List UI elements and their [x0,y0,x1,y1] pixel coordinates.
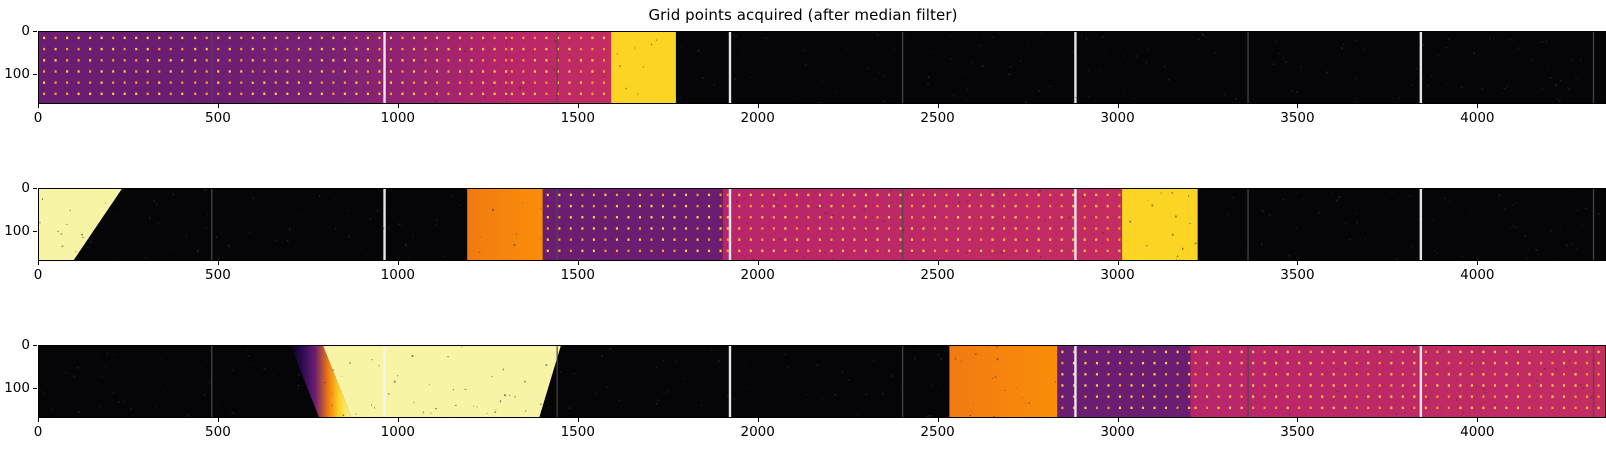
x-tick-label-row-2: 1500 [561,424,595,440]
x-tick-label-row-1: 1000 [381,267,415,283]
axes-row-0 [38,31,1606,104]
y-tick-row-0 [33,31,37,32]
x-tick-label-row-2: 1000 [381,424,415,440]
x-tick-label-row-0: 2500 [920,110,954,126]
x-tick-row-2 [218,418,219,422]
y-tick-row-2 [33,388,37,389]
y-tick-label-row-1: 0 [21,180,30,196]
x-tick-row-1 [938,261,939,265]
x-tick-label-row-0: 4000 [1460,110,1494,126]
x-tick-label-row-1: 3500 [1280,267,1314,283]
x-tick-row-0 [938,104,939,108]
heatmap-image-row-0 [39,32,1605,103]
figure-title: Grid points acquired (after median filte… [0,6,1606,24]
x-tick-label-row-0: 3500 [1280,110,1314,126]
y-tick-label-row-2: 100 [4,380,30,396]
x-tick-label-row-2: 0 [34,424,43,440]
x-tick-label-row-2: 500 [205,424,231,440]
x-tick-label-row-1: 2000 [740,267,774,283]
x-tick-row-0 [1297,104,1298,108]
x-tick-row-1 [38,261,39,265]
y-tick-label-row-0: 0 [21,23,30,39]
x-tick-label-row-0: 3000 [1100,110,1134,126]
x-tick-label-row-2: 4000 [1460,424,1494,440]
x-tick-row-1 [398,261,399,265]
y-tick-row-1 [33,188,37,189]
heatmap-image-row-2 [39,346,1605,417]
x-tick-row-2 [938,418,939,422]
x-tick-label-row-1: 500 [205,267,231,283]
x-tick-label-row-0: 1000 [381,110,415,126]
x-tick-row-2 [1118,418,1119,422]
y-tick-row-2 [33,345,37,346]
x-tick-label-row-2: 2000 [740,424,774,440]
x-tick-row-1 [1477,261,1478,265]
figure-canvas: Grid points acquired (after median filte… [0,0,1606,460]
x-tick-label-row-1: 3000 [1100,267,1134,283]
x-tick-label-row-2: 3500 [1280,424,1314,440]
x-tick-row-0 [398,104,399,108]
y-tick-label-row-2: 0 [21,337,30,353]
axes-row-1 [38,188,1606,261]
x-tick-row-1 [1118,261,1119,265]
x-tick-row-0 [758,104,759,108]
x-tick-row-0 [1118,104,1119,108]
x-tick-label-row-0: 500 [205,110,231,126]
x-tick-label-row-0: 0 [34,110,43,126]
x-tick-label-row-0: 1500 [561,110,595,126]
x-tick-row-2 [38,418,39,422]
x-tick-label-row-2: 2500 [920,424,954,440]
x-tick-row-2 [1297,418,1298,422]
x-tick-label-row-1: 0 [34,267,43,283]
x-tick-row-0 [578,104,579,108]
y-tick-row-1 [33,231,37,232]
x-tick-row-2 [758,418,759,422]
heatmap-image-row-1 [39,189,1605,260]
x-tick-label-row-1: 4000 [1460,267,1494,283]
y-tick-label-row-0: 100 [4,66,30,82]
x-tick-row-1 [218,261,219,265]
x-tick-row-2 [1477,418,1478,422]
x-tick-label-row-1: 2500 [920,267,954,283]
x-tick-label-row-2: 3000 [1100,424,1134,440]
x-tick-row-1 [758,261,759,265]
y-tick-label-row-1: 100 [4,223,30,239]
x-tick-row-1 [578,261,579,265]
axes-row-2 [38,345,1606,418]
x-tick-row-2 [398,418,399,422]
x-tick-row-1 [1297,261,1298,265]
x-tick-row-0 [218,104,219,108]
x-tick-row-0 [38,104,39,108]
y-tick-row-0 [33,74,37,75]
x-tick-row-2 [578,418,579,422]
x-tick-row-0 [1477,104,1478,108]
x-tick-label-row-1: 1500 [561,267,595,283]
x-tick-label-row-0: 2000 [740,110,774,126]
